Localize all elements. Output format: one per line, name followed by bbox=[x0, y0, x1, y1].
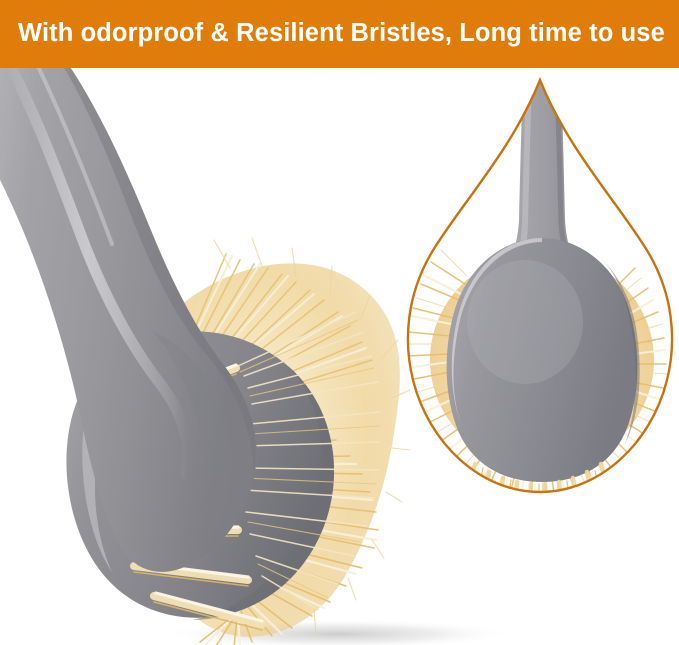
product-photo-stage bbox=[0, 68, 679, 645]
teardrop-inset-content bbox=[405, 72, 679, 524]
product-feature-image: With odorproof & Resilient Bristles, Lon… bbox=[0, 0, 679, 645]
teardrop-callout bbox=[405, 72, 679, 572]
headline-banner: With odorproof & Resilient Bristles, Lon… bbox=[0, 0, 679, 68]
banner-headline-text: With odorproof & Resilient Bristles, Lon… bbox=[18, 21, 665, 47]
inset-head-plate bbox=[447, 238, 640, 482]
